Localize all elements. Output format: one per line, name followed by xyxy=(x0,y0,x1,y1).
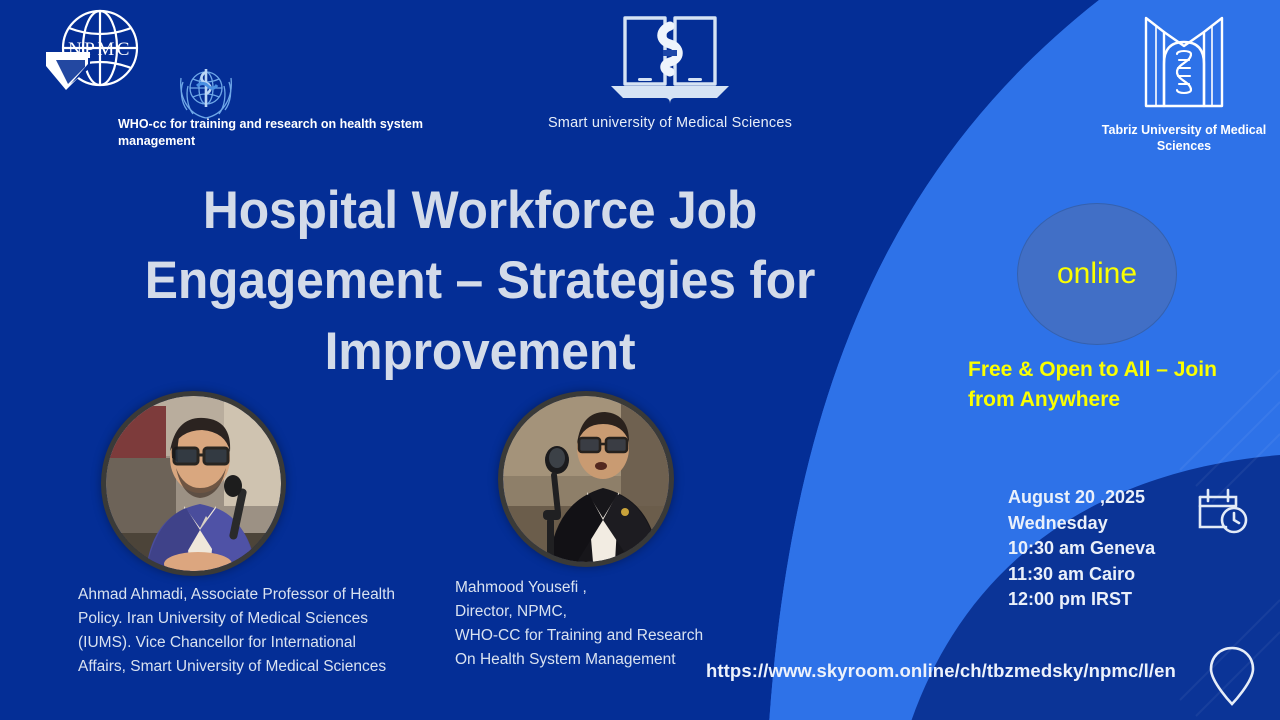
speaker-1-photo xyxy=(106,396,281,571)
header-logos: NPMC xyxy=(0,0,1280,175)
who-emblem-icon xyxy=(175,60,237,122)
npmc-wordmark: NPMC xyxy=(68,39,132,60)
npmc-caption: WHO-cc for training and research on heal… xyxy=(118,116,448,150)
logo-smart-university: Smart university of Medical Sciences xyxy=(520,10,820,131)
speaker-1-bio: Ahmad Ahmadi, Associate Professor of Hea… xyxy=(78,583,398,679)
npmc-globe-book-icon: NPMC xyxy=(38,8,158,113)
logo-npmc: NPMC xyxy=(30,8,430,113)
free-open-note: Free & Open to All – Join from Anywhere xyxy=(968,355,1258,416)
event-datetime: August 20 ,2025 Wednesday 10:30 am Genev… xyxy=(1008,485,1208,613)
page-title: Hospital Workforce Job Engagement – Stra… xyxy=(81,176,880,387)
speaker-1-portrait xyxy=(106,396,281,571)
speaker-2-photo xyxy=(503,396,669,562)
speaker-2-bio: Mahmood Yousefi , Director, NPMC, WHO-CC… xyxy=(455,576,745,672)
speaker-card-2: Mahmood Yousefi , Director, NPMC, WHO-CC… xyxy=(455,396,755,672)
event-url[interactable]: https://www.skyroom.online/ch/tbzmedsky/… xyxy=(706,660,1176,682)
speaker-card-1: Ahmad Ahmadi, Associate Professor of Hea… xyxy=(78,396,408,679)
logo-tabriz-university: Tabriz University of Medical Sciences xyxy=(1098,6,1270,154)
archway-dna-icon xyxy=(1134,6,1234,114)
calendar-clock-icon xyxy=(1196,487,1250,535)
smart-university-caption: Smart university of Medical Sciences xyxy=(520,115,820,131)
laptop-book-caduceus-icon xyxy=(605,10,735,106)
webinar-poster: NPMC xyxy=(0,0,1280,720)
tabriz-university-caption: Tabriz University of Medical Sciences xyxy=(1098,123,1270,154)
online-label: online xyxy=(1057,257,1137,291)
speaker-2-portrait xyxy=(503,396,669,562)
status-badge-online: online xyxy=(1017,203,1177,345)
map-pin-icon xyxy=(1207,644,1257,708)
